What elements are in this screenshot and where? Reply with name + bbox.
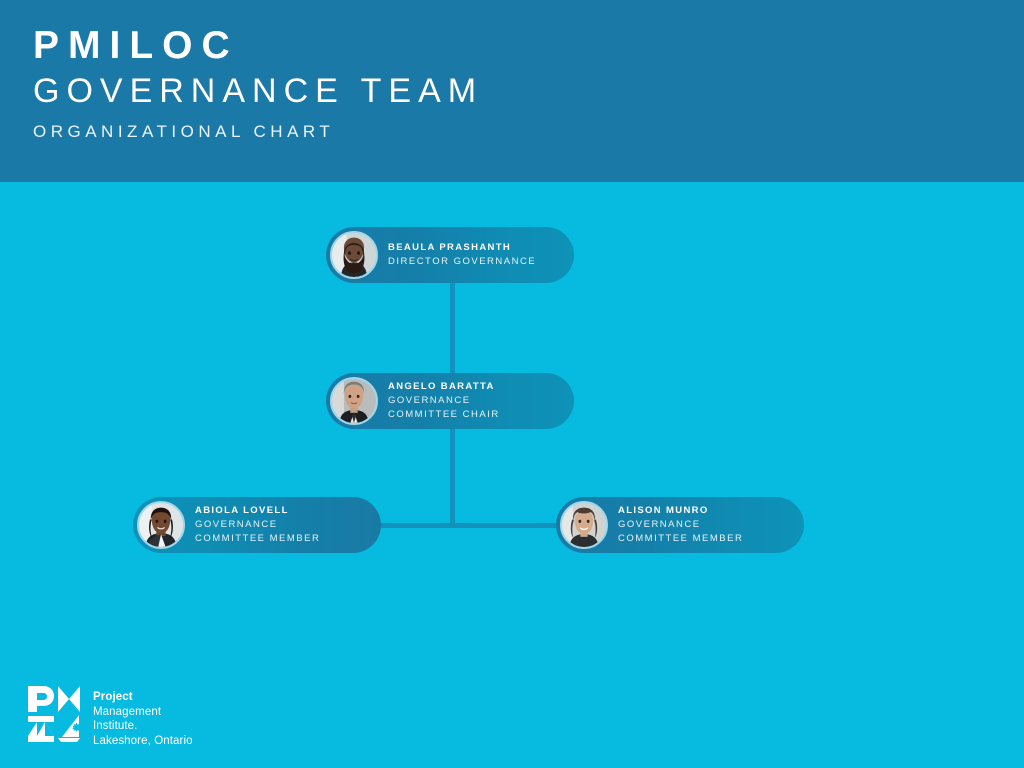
person-role2-abiola: COMMITTEE MEMBER xyxy=(195,532,320,546)
slide-header: PMILOC GOVERNANCE TEAM ORGANIZATIONAL CH… xyxy=(0,0,1024,182)
pmi-logo-icon xyxy=(26,684,82,744)
card-text-abiola: ABIOLA LOVELL GOVERNANCE COMMITTEE MEMBE… xyxy=(195,504,320,545)
person-role1-angelo: GOVERNANCE xyxy=(388,394,500,408)
person-name-abiola: ABIOLA LOVELL xyxy=(195,504,320,518)
card-text-angelo: ANGELO BARATTA GOVERNANCE COMMITTEE CHAI… xyxy=(388,380,500,421)
org-node-abiola[interactable]: ABIOLA LOVELL GOVERNANCE COMMITTEE MEMBE… xyxy=(133,497,381,553)
connector-beaula-to-angelo xyxy=(450,283,455,382)
title-team: GOVERNANCE TEAM xyxy=(33,74,483,110)
pmi-chapter-name: Project Management Institute. Lakeshore,… xyxy=(93,684,193,749)
footer-line-1: Project xyxy=(93,690,193,705)
person-role-beaula: DIRECTOR GOVERNANCE xyxy=(388,255,536,269)
footer-line-3: Institute. xyxy=(93,719,193,734)
person-name-beaula: BEAULA PRASHANTH xyxy=(388,241,536,255)
footer-line-4: Lakeshore, Ontario xyxy=(93,734,193,749)
title-organization: PMILOC xyxy=(33,26,239,67)
org-chart-slide: PMILOC GOVERNANCE TEAM ORGANIZATIONAL CH… xyxy=(0,0,1024,768)
person-role2-angelo: COMMITTEE CHAIR xyxy=(388,408,500,422)
person-role1-abiola: GOVERNANCE xyxy=(195,518,320,532)
org-node-angelo[interactable]: ANGELO BARATTA GOVERNANCE COMMITTEE CHAI… xyxy=(326,373,574,429)
card-text-beaula: BEAULA PRASHANTH DIRECTOR GOVERNANCE xyxy=(388,241,536,269)
title-subtitle: ORGANIZATIONAL CHART xyxy=(33,123,334,141)
avatar-alison xyxy=(560,501,608,549)
footer: Project Management Institute. Lakeshore,… xyxy=(26,684,193,749)
person-role1-alison: GOVERNANCE xyxy=(618,518,743,532)
org-node-alison[interactable]: ALISON MUNRO GOVERNANCE COMMITTEE MEMBER xyxy=(556,497,804,553)
card-text-alison: ALISON MUNRO GOVERNANCE COMMITTEE MEMBER xyxy=(618,504,743,545)
connector-angelo-to-bus xyxy=(450,425,455,528)
footer-line-2: Management xyxy=(93,705,193,720)
avatar-abiola xyxy=(137,501,185,549)
org-node-beaula[interactable]: BEAULA PRASHANTH DIRECTOR GOVERNANCE xyxy=(326,227,574,283)
person-name-alison: ALISON MUNRO xyxy=(618,504,743,518)
avatar-angelo xyxy=(330,377,378,425)
person-name-angelo: ANGELO BARATTA xyxy=(388,380,500,394)
person-role2-alison: COMMITTEE MEMBER xyxy=(618,532,743,546)
avatar-beaula xyxy=(330,231,378,279)
